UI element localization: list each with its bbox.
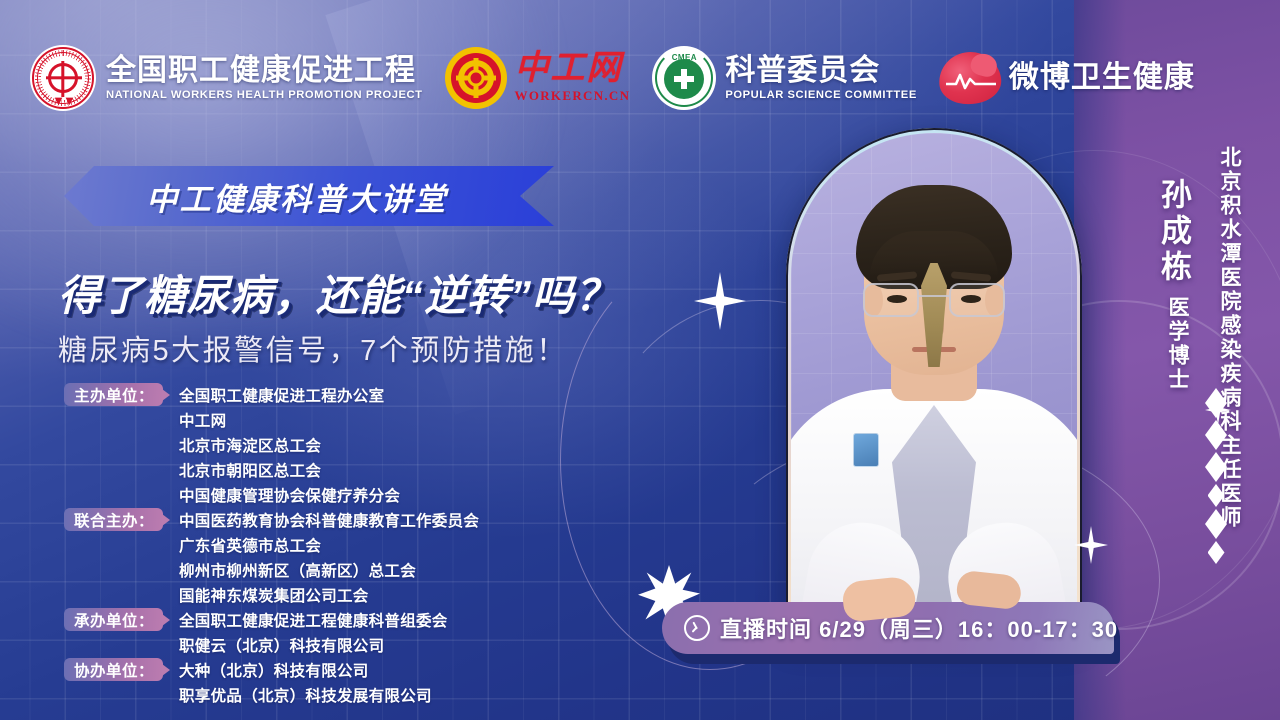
logo-weibo-health: 微博卫生健康 — [939, 52, 1195, 104]
organizer-pill: 承办单位： — [64, 608, 163, 631]
organizer-name: 全国职工健康促进工程办公室 — [179, 384, 384, 406]
diamond-icon — [1205, 509, 1227, 539]
organizer-name: 柳州市柳州新区（高新区）总工会 — [179, 559, 416, 581]
logo-national-workers-health: ▼▼ 全国职工健康促进工程 NATIONAL WORKERS HEALTH PR… — [30, 45, 423, 111]
organizer-pill: 联合主办： — [64, 508, 163, 531]
organizer-name: 北京市朝阳区总工会 — [179, 459, 321, 481]
weibo-label-cn: 微博卫生健康 — [1009, 62, 1195, 94]
organizer-list: 主办单位： 全国职工健康促进工程办公室 中工网 北京市海淀区总工会 北京市朝阳区… — [60, 382, 620, 707]
organizer-row: 职健云（北京）科技有限公司 — [60, 632, 620, 657]
diamond-icon — [1205, 420, 1227, 450]
logo-popular-science-committee: CMEA 科普委员会 POPULAR SCIENCE COMMITTEE — [652, 46, 917, 110]
cmea-emblem-icon: CMEA — [652, 46, 716, 110]
logo-row: ▼▼ 全国职工健康促进工程 NATIONAL WORKERS HEALTH PR… — [30, 42, 1195, 114]
portrait-inner — [791, 133, 1077, 633]
poster-stage: ▼▼ 全国职工健康促进工程 NATIONAL WORKERS HEALTH PR… — [0, 0, 1280, 720]
doctor-id-badge — [853, 433, 879, 467]
speaker-title: 医学博士 — [1162, 296, 1192, 392]
organizer-row: 主办单位： 全国职工健康促进工程办公室 — [60, 382, 620, 407]
workercn-seal-icon — [445, 47, 507, 109]
organizer-row: 承办单位： 全国职工健康促进工程健康科普组委会 — [60, 607, 620, 632]
program-banner: 中工健康科普大讲堂 — [64, 166, 554, 226]
organizer-name: 职健云（北京）科技有限公司 — [179, 634, 384, 656]
speaker-portrait — [786, 128, 1082, 638]
organizer-row: 北京市朝阳区总工会 — [60, 457, 620, 482]
doctor-eye-right — [961, 295, 981, 303]
diamond-icon — [1205, 452, 1227, 482]
organizer-row: 广东省英德市总工会 — [60, 532, 620, 557]
organizer-name: 广东省英德市总工会 — [179, 534, 321, 556]
organizer-name: 职享优品（北京）科技发展有限公司 — [179, 684, 432, 706]
portrait-frame — [786, 128, 1082, 638]
organizer-row: 中工网 — [60, 407, 620, 432]
psc-label-cn: 科普委员会 — [725, 55, 917, 87]
organizer-name: 中工网 — [179, 409, 226, 431]
organizer-name: 全国职工健康促进工程健康科普组委会 — [179, 609, 448, 631]
organizer-name: 大种（北京）科技有限公司 — [179, 659, 369, 681]
organizer-pill: 协办单位： — [64, 658, 163, 681]
weibo-heart-pulse-icon — [939, 52, 1001, 104]
national-workers-seal-icon: ▼▼ — [30, 45, 96, 111]
diamond-decoration-column — [1196, 386, 1236, 566]
logo-workercn: 中工网 WORKERCN.CN — [445, 47, 631, 109]
diamond-icon — [1205, 388, 1227, 418]
organizer-row: 北京市海淀区总工会 — [60, 432, 620, 457]
psc-label-en: POPULAR SCIENCE COMMITTEE — [725, 89, 917, 101]
logo-label-cn: 全国职工健康促进工程 — [106, 55, 423, 87]
organizer-name: 中国医药教育协会科普健康教育工作委员会 — [179, 509, 479, 531]
logo-label-en: NATIONAL WORKERS HEALTH PROMOTION PROJEC… — [106, 89, 423, 101]
organizer-pill: 主办单位： — [64, 383, 163, 406]
workercn-label-en: WORKERCN.CN — [515, 88, 631, 104]
doctor-eye-left — [887, 295, 907, 303]
program-banner-label: 中工健康科普大讲堂 — [146, 174, 472, 219]
doctor-figure — [791, 133, 1077, 633]
organizer-row: 柳州市柳州新区（高新区）总工会 — [60, 557, 620, 582]
organizer-row: 协办单位： 大种（北京）科技有限公司 — [60, 657, 620, 682]
organizer-name: 中国健康管理协会保健疗养分会 — [179, 484, 400, 506]
page-subtitle: 糖尿病5大报警信号，7个预防措施！ — [58, 327, 678, 369]
organizer-row: 国能神东煤炭集团公司工会 — [60, 582, 620, 607]
organizer-name: 国能神东煤炭集团公司工会 — [179, 584, 369, 606]
organizer-row: 职享优品（北京）科技发展有限公司 — [60, 682, 620, 707]
speaker-name: 孙成栋 — [1151, 178, 1196, 286]
page-title: 得了糖尿病，还能“逆转”吗？ — [58, 262, 678, 323]
organizer-row: 中国健康管理协会保健疗养分会 — [60, 482, 620, 507]
diamond-icon — [1208, 541, 1225, 564]
clock-icon — [684, 615, 710, 641]
broadcast-time-label: 直播时间 6/29（周三）16：00-17：30 — [720, 612, 1118, 644]
organizer-row: 联合主办： 中国医药教育协会科普健康教育工作委员会 — [60, 507, 620, 532]
workercn-label-cn: 中工网 — [515, 52, 631, 86]
glasses-icon — [861, 283, 1007, 321]
diamond-icon — [1208, 484, 1225, 507]
organizer-name: 北京市海淀区总工会 — [179, 434, 321, 456]
